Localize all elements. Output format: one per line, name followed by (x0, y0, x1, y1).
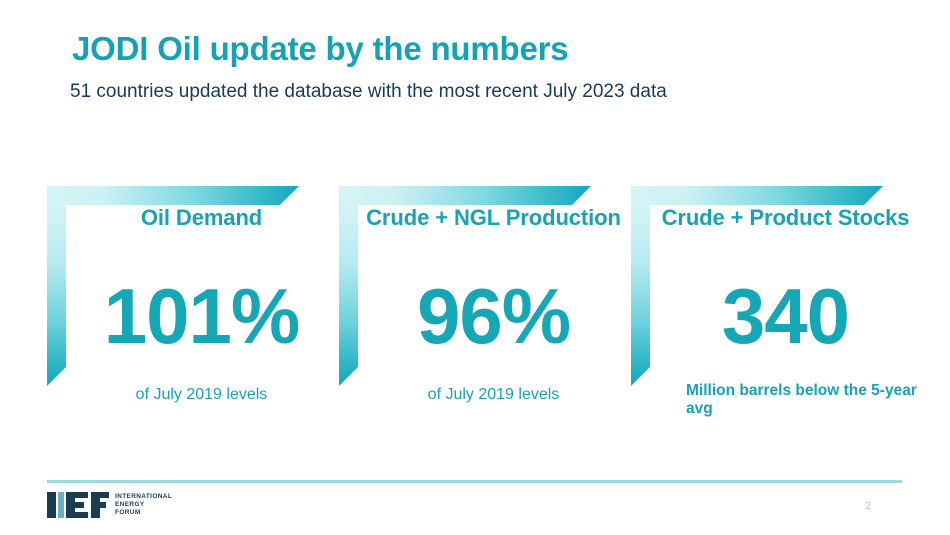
stat-card-group: Oil Demand 101% of July 2019 levels Crud… (0, 186, 950, 416)
page-title: JODI Oil update by the numbers (72, 30, 568, 68)
ief-logo-wordmark: INTERNATIONAL ENERGY FORUM (115, 493, 172, 518)
ief-logo-line-2: ENERGY (115, 501, 172, 509)
stat-card-crude-ngl-production: Crude + NGL Production 96% of July 2019 … (339, 186, 629, 416)
ief-logomark-icon (47, 492, 109, 518)
bracket-left-icon (47, 186, 66, 386)
stat-card-heading: Crude + Product Stocks (650, 205, 921, 231)
bracket-top-icon (339, 186, 591, 205)
stat-card-body: Crude + Product Stocks 340 Million barre… (650, 205, 921, 416)
stat-card-value: 340 (650, 277, 921, 355)
bracket-top-icon (631, 186, 883, 205)
stat-card-heading: Crude + NGL Production (358, 205, 629, 231)
stat-card-caption: of July 2019 levels (66, 385, 337, 404)
stat-card-caption: Million barrels below the 5-year avg (650, 382, 921, 418)
stat-card-crude-product-stocks: Crude + Product Stocks 340 Million barre… (631, 186, 921, 416)
stat-card-value: 96% (358, 277, 629, 355)
bracket-top-icon (47, 186, 299, 205)
page-subtitle: 51 countries updated the database with t… (70, 81, 667, 103)
stat-card-body: Oil Demand 101% of July 2019 levels (66, 205, 337, 416)
stat-card-value: 101% (66, 277, 337, 355)
stat-card-body: Crude + NGL Production 96% of July 2019 … (358, 205, 629, 416)
ief-logo-line-3: FORUM (115, 509, 172, 517)
stat-card-oil-demand: Oil Demand 101% of July 2019 levels (47, 186, 337, 416)
ief-logo-line-1: INTERNATIONAL (115, 493, 172, 501)
stat-card-heading: Oil Demand (66, 205, 337, 231)
footer-divider (47, 480, 902, 483)
stat-card-caption: of July 2019 levels (358, 385, 629, 404)
bracket-left-icon (631, 186, 650, 386)
ief-logo: INTERNATIONAL ENERGY FORUM (47, 491, 172, 519)
page-number: 2 (865, 500, 871, 512)
bracket-left-icon (339, 186, 358, 386)
